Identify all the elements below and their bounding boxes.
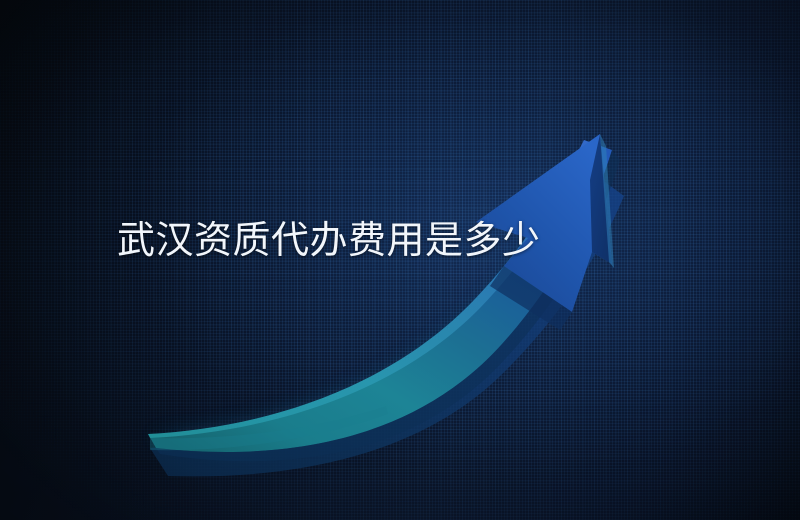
banner-canvas: 武汉资质代办费用是多少 [0, 0, 800, 520]
page-title: 武汉资质代办费用是多少 [117, 218, 541, 264]
